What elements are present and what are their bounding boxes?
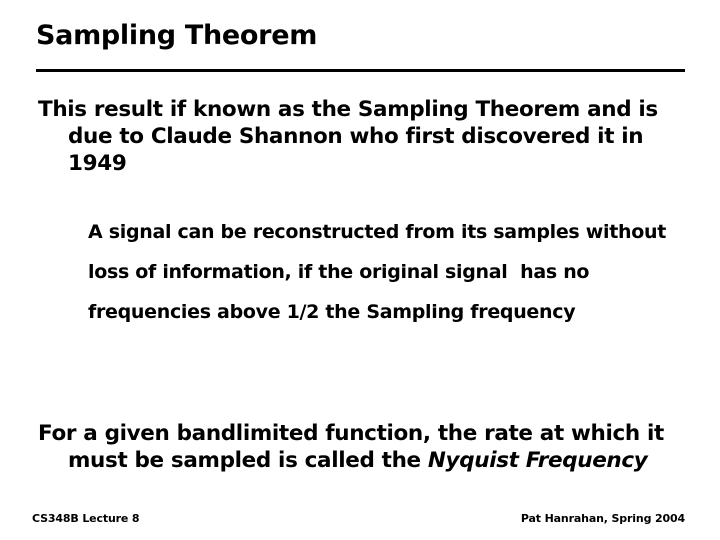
paragraph-text: This result if known as the Sampling The… — [0, 96, 720, 177]
body-paragraph-3: For a given bandlimited function, the ra… — [0, 420, 720, 474]
body-paragraph-2: A signal can be reconstructed from its s… — [0, 212, 720, 332]
slide: Sampling Theorem This result if known as… — [0, 0, 720, 540]
paragraph-text: For a given bandlimited function, the ra… — [0, 420, 720, 474]
nyquist-frequency-emphasis: Nyquist Frequency — [428, 448, 648, 473]
slide-footer: CS348B Lecture 8 Pat Hanrahan, Spring 20… — [32, 512, 685, 525]
body-paragraph-1: This result if known as the Sampling The… — [0, 96, 720, 177]
paragraph-text: A signal can be reconstructed from its s… — [0, 212, 720, 332]
title-divider — [36, 69, 685, 72]
footer-course-label: CS348B Lecture 8 — [32, 512, 139, 525]
footer-author-label: Pat Hanrahan, Spring 2004 — [521, 512, 685, 525]
page-title: Sampling Theorem — [36, 19, 686, 53]
